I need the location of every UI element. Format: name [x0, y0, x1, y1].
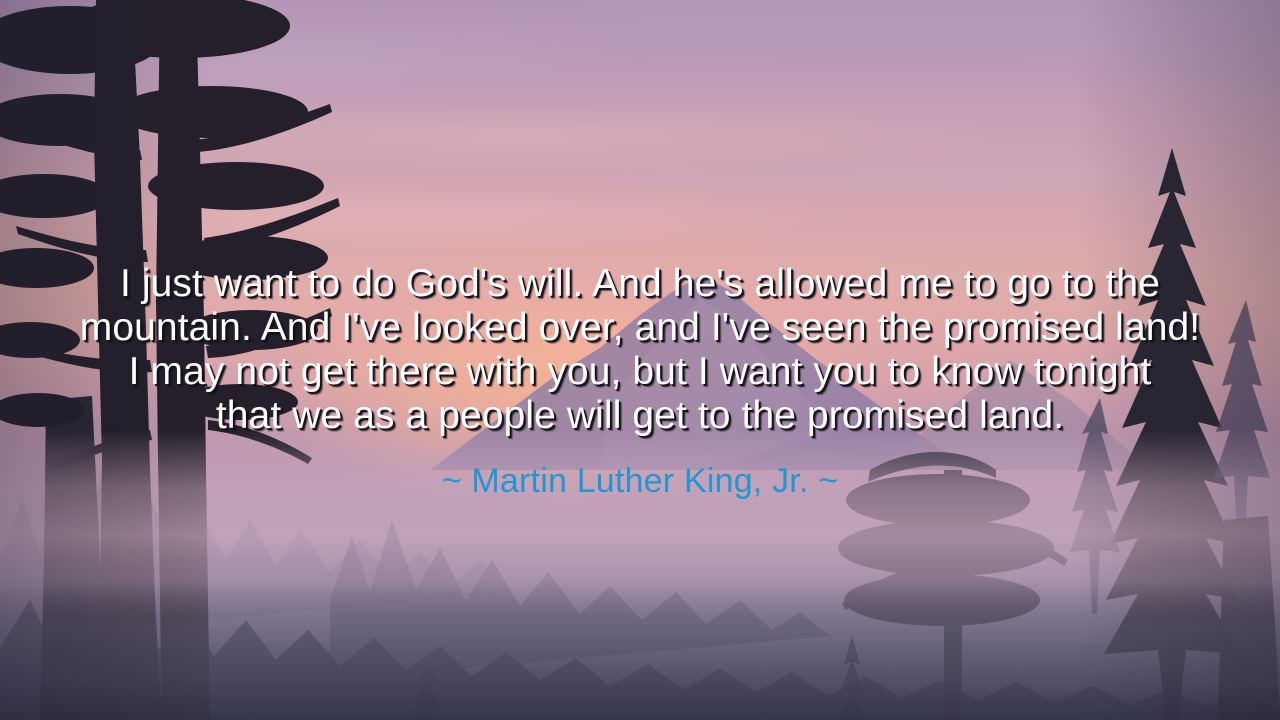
quote-text: I just want to do God's will. And he's a… [0, 262, 1280, 438]
quote-attribution: ~ Martin Luther King, Jr. ~ [0, 438, 1280, 501]
quote-text-block: I just want to do God's will. And he's a… [0, 262, 1280, 501]
quote-wallpaper: I just want to do God's will. And he's a… [0, 0, 1280, 720]
